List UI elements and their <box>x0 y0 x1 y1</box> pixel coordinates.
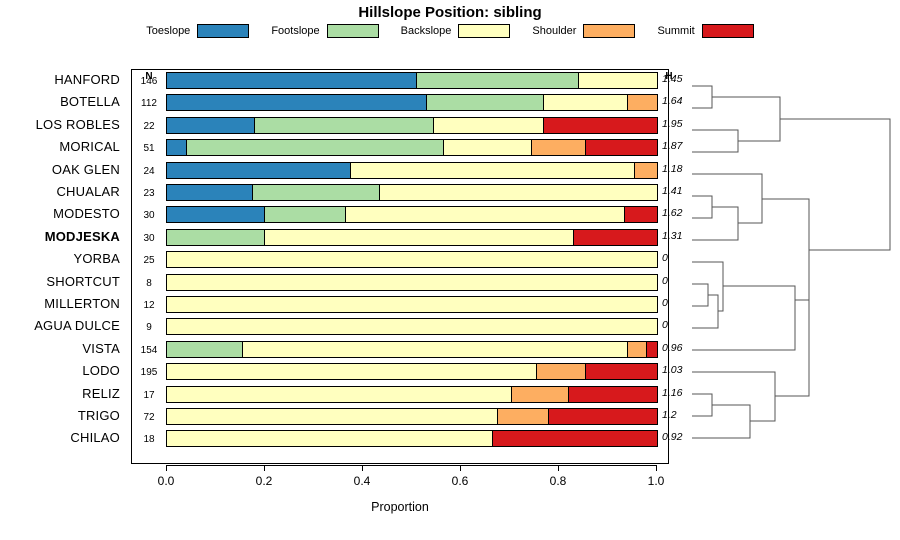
h-value: 0 <box>658 271 692 291</box>
bar-segment-summit <box>544 118 657 133</box>
bar-segment-backslope <box>167 387 512 402</box>
stacked-bar <box>166 318 658 335</box>
bar-segment-shoulder <box>537 364 586 379</box>
legend-item: Backslope <box>401 24 511 38</box>
x-axis-tick-label: 0.6 <box>440 474 480 488</box>
bar-segment-backslope <box>579 73 657 88</box>
stacked-bar <box>166 206 658 223</box>
soil-series-label: BOTELLA <box>0 91 126 113</box>
legend-item: Summit <box>657 24 753 38</box>
stacked-bar <box>166 296 658 313</box>
h-value: 0.92 <box>658 427 692 447</box>
bar-segment-toeslope <box>167 95 427 110</box>
bar-segment-shoulder <box>635 163 657 178</box>
x-axis-tick <box>264 465 265 471</box>
bar-segment-shoulder <box>512 387 568 402</box>
bar-segment-summit <box>647 342 657 357</box>
legend-item-label: Summit <box>657 26 694 37</box>
x-axis-tick-label: 0.8 <box>538 474 578 488</box>
stacked-bar <box>166 386 658 403</box>
legend-item-label: Backslope <box>401 26 452 37</box>
soil-series-label: CHILAO <box>0 427 126 449</box>
stacked-bar <box>166 139 658 156</box>
stacked-bar <box>166 251 658 268</box>
bar-segment-backslope <box>444 140 532 155</box>
x-axis-tick <box>460 465 461 471</box>
bar-segment-footslope <box>255 118 434 133</box>
bar-segment-summit <box>574 230 657 245</box>
bar-segment-summit <box>625 207 657 222</box>
x-axis: 0.00.20.40.60.81.0 <box>166 465 656 466</box>
legend-swatch <box>702 24 754 38</box>
stacked-bar <box>166 184 658 201</box>
x-axis-tick <box>656 465 657 471</box>
soil-series-label: LOS ROBLES <box>0 114 126 136</box>
bar-segment-toeslope <box>167 185 253 200</box>
stacked-bar <box>166 162 658 179</box>
legend-item-label: Footslope <box>271 26 319 37</box>
h-value: 1.31 <box>658 226 692 246</box>
h-value: 1.2 <box>658 405 692 425</box>
bar-segment-backslope <box>544 95 627 110</box>
stacked-bar <box>166 117 658 134</box>
legend-item-label: Toeslope <box>146 26 190 37</box>
dendrogram-svg <box>690 60 895 470</box>
bar-segment-shoulder <box>628 342 648 357</box>
bar-segment-footslope <box>265 207 346 222</box>
soil-series-label: RELIZ <box>0 383 126 405</box>
h-value: 0 <box>658 293 692 313</box>
x-axis-tick <box>362 465 363 471</box>
x-axis-tick <box>558 465 559 471</box>
bar-segment-toeslope <box>167 207 265 222</box>
bar-segment-footslope <box>167 342 243 357</box>
legend-item: Toeslope <box>146 24 249 38</box>
soil-series-label: MORICAL <box>0 136 126 158</box>
x-axis-tick-label: 0.4 <box>342 474 382 488</box>
soil-series-label: YORBA <box>0 248 126 270</box>
stacked-bar <box>166 430 658 447</box>
bar-segment-backslope <box>265 230 574 245</box>
stacked-bar <box>166 94 658 111</box>
h-value: 1.18 <box>658 159 692 179</box>
soil-series-label: AGUA DULCE <box>0 315 126 337</box>
bar-segment-toeslope <box>167 118 255 133</box>
h-value: 0 <box>658 315 692 335</box>
bar-segment-backslope <box>167 297 657 312</box>
h-value: 1.16 <box>658 383 692 403</box>
legend-swatch <box>327 24 379 38</box>
soil-series-label: TRIGO <box>0 405 126 427</box>
page-title: Hillslope Position: sibling <box>0 4 900 21</box>
stacked-bar <box>166 363 658 380</box>
bar-segment-footslope <box>417 73 579 88</box>
h-value: 1.03 <box>658 360 692 380</box>
stacked-bar <box>166 274 658 291</box>
legend-swatch <box>458 24 510 38</box>
bar-segment-footslope <box>253 185 380 200</box>
bar-segment-backslope <box>434 118 544 133</box>
bar-segment-backslope <box>167 364 537 379</box>
stacked-bar <box>166 229 658 246</box>
soil-series-label: MODJESKA <box>0 226 126 248</box>
h-value: 1.87 <box>658 136 692 156</box>
x-axis-line <box>166 465 656 466</box>
soil-series-label: OAK GLEN <box>0 159 126 181</box>
stacked-bar <box>166 408 658 425</box>
bar-segment-shoulder <box>532 140 586 155</box>
bar-segment-backslope <box>167 409 498 424</box>
bar-segment-backslope <box>380 185 657 200</box>
bar-segment-toeslope <box>167 163 351 178</box>
soil-series-label: HANFORD <box>0 69 126 91</box>
bar-segment-summit <box>549 409 657 424</box>
x-axis-tick-label: 0.2 <box>244 474 284 488</box>
bar-segment-backslope <box>167 431 493 446</box>
bar-segment-summit <box>569 387 657 402</box>
legend-swatch <box>583 24 635 38</box>
h-value: 1.64 <box>658 91 692 111</box>
bar-segment-summit <box>493 431 657 446</box>
legend: ToeslopeFootslopeBackslopeShoulderSummit <box>0 24 900 38</box>
h-value: 1.95 <box>658 114 692 134</box>
bar-segment-backslope <box>351 163 635 178</box>
soil-series-label: MODESTO <box>0 203 126 225</box>
legend-item-label: Shoulder <box>532 26 576 37</box>
bar-segment-summit <box>586 140 657 155</box>
bar-segment-footslope <box>187 140 444 155</box>
h-value: 0.96 <box>658 338 692 358</box>
stacked-bar <box>166 72 658 89</box>
bar-segment-toeslope <box>167 73 417 88</box>
bar-segment-shoulder <box>628 95 657 110</box>
h-value: 1.41 <box>658 181 692 201</box>
bar-segment-backslope <box>167 252 657 267</box>
x-axis-tick-label: 1.0 <box>636 474 676 488</box>
x-axis-label: Proportion <box>131 500 669 514</box>
soil-series-label: MILLERTON <box>0 293 126 315</box>
n-value: 18 <box>134 427 164 453</box>
bar-segment-backslope <box>167 275 657 290</box>
bar-segment-toeslope <box>167 140 187 155</box>
bar-segment-backslope <box>167 319 657 334</box>
bar-segment-backslope <box>346 207 625 222</box>
bar-segment-footslope <box>167 230 265 245</box>
soil-series-label: SHORTCUT <box>0 271 126 293</box>
legend-swatch <box>197 24 249 38</box>
bar-segment-summit <box>586 364 657 379</box>
bar-segment-backslope <box>243 342 628 357</box>
dendrogram <box>690 60 895 470</box>
h-value: 1.62 <box>658 203 692 223</box>
bar-segment-shoulder <box>498 409 549 424</box>
legend-item: Shoulder <box>532 24 635 38</box>
soil-series-label: VISTA <box>0 338 126 360</box>
legend-item: Footslope <box>271 24 378 38</box>
h-value: 0 <box>658 248 692 268</box>
stacked-bar <box>166 341 658 358</box>
x-axis-tick-label: 0.0 <box>146 474 186 488</box>
soil-series-label: CHUALAR <box>0 181 126 203</box>
h-value: 1.45 <box>658 69 692 89</box>
bar-segment-footslope <box>427 95 545 110</box>
soil-series-label: LODO <box>0 360 126 382</box>
x-axis-tick <box>166 465 167 471</box>
